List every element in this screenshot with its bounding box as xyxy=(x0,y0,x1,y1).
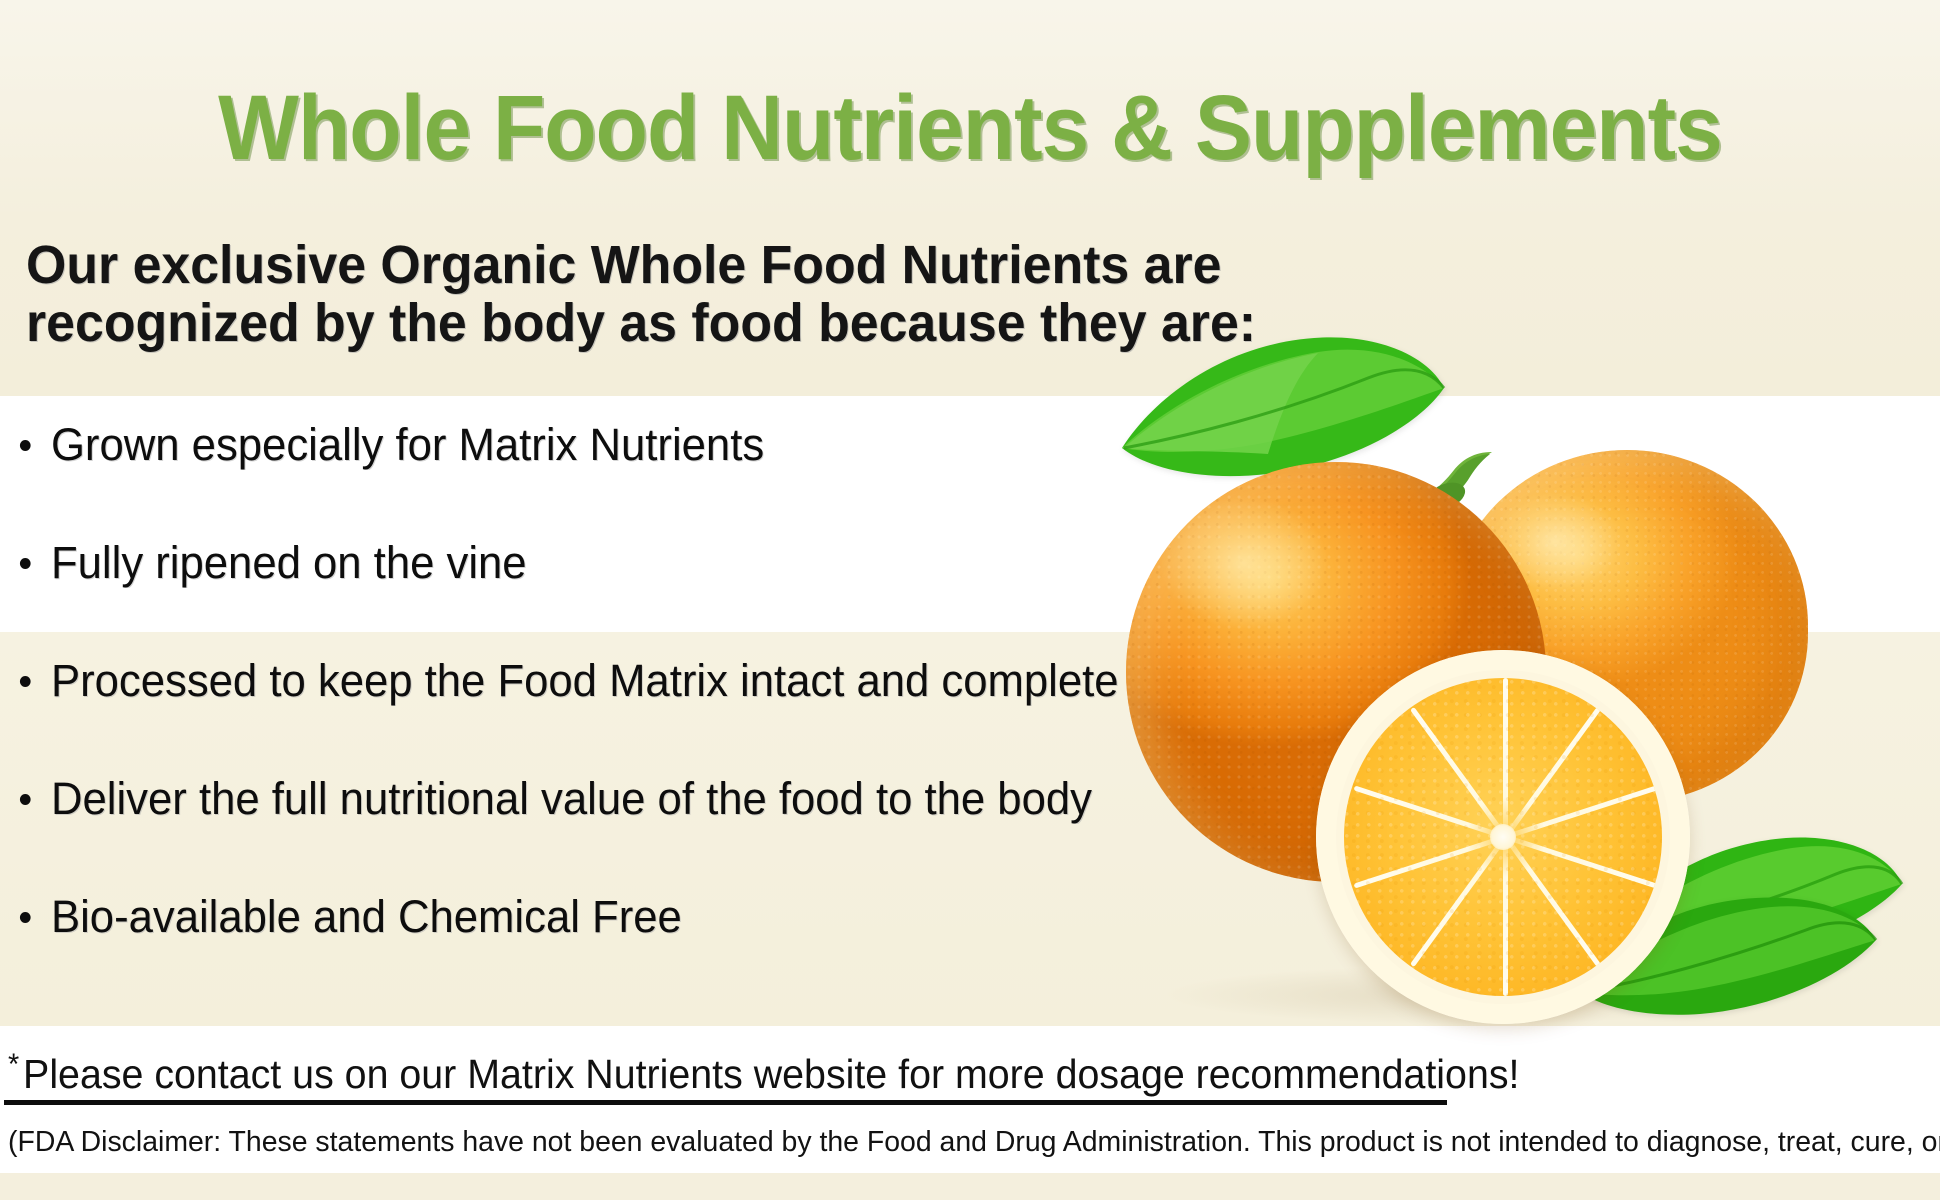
list-item: Deliver the full nutritional value of th… xyxy=(18,774,1134,892)
poster-canvas: Whole Food Nutrients & Supplements Our e… xyxy=(0,0,1940,1200)
list-item-label: Processed to keep the Food Matrix intact… xyxy=(51,655,1119,706)
list-item: Processed to keep the Food Matrix intact… xyxy=(18,656,1134,774)
orange-core xyxy=(1490,824,1516,850)
list-item-label: Fully ripened on the vine xyxy=(51,537,527,588)
footnote-text: Please contact us on our Matrix Nutrient… xyxy=(23,1051,1519,1097)
list-item: Bio-available and Chemical Free xyxy=(18,892,1134,1010)
lead-paragraph: Our exclusive Organic Whole Food Nutrien… xyxy=(26,236,1485,352)
benefits-list: Grown especially for Matrix Nutrients Fu… xyxy=(18,420,1168,1010)
list-item-label: Grown especially for Matrix Nutrients xyxy=(51,419,764,470)
footnote-divider xyxy=(4,1100,1447,1107)
asterisk-icon: * xyxy=(8,1048,19,1081)
list-item-label: Deliver the full nutritional value of th… xyxy=(51,773,1092,824)
halved-orange-icon xyxy=(1316,650,1690,1024)
bullet-dot-icon xyxy=(20,794,31,805)
bullet-dot-icon xyxy=(20,676,31,687)
footnote: *Please contact us on our Matrix Nutrien… xyxy=(8,1042,1519,1097)
bullet-dot-icon xyxy=(20,558,31,569)
oranges-photo xyxy=(1108,330,1940,1042)
bullet-dot-icon xyxy=(20,912,31,923)
list-item: Fully ripened on the vine xyxy=(18,538,1134,656)
fda-disclaimer: (FDA Disclaimer: These statements have n… xyxy=(8,1125,1895,1159)
list-item: Grown especially for Matrix Nutrients xyxy=(18,420,1134,538)
list-item-label: Bio-available and Chemical Free xyxy=(51,891,682,942)
bullet-dot-icon xyxy=(20,440,31,451)
page-title: Whole Food Nutrients & Supplements xyxy=(68,76,1872,180)
background-band-cream-footer xyxy=(0,1173,1940,1200)
